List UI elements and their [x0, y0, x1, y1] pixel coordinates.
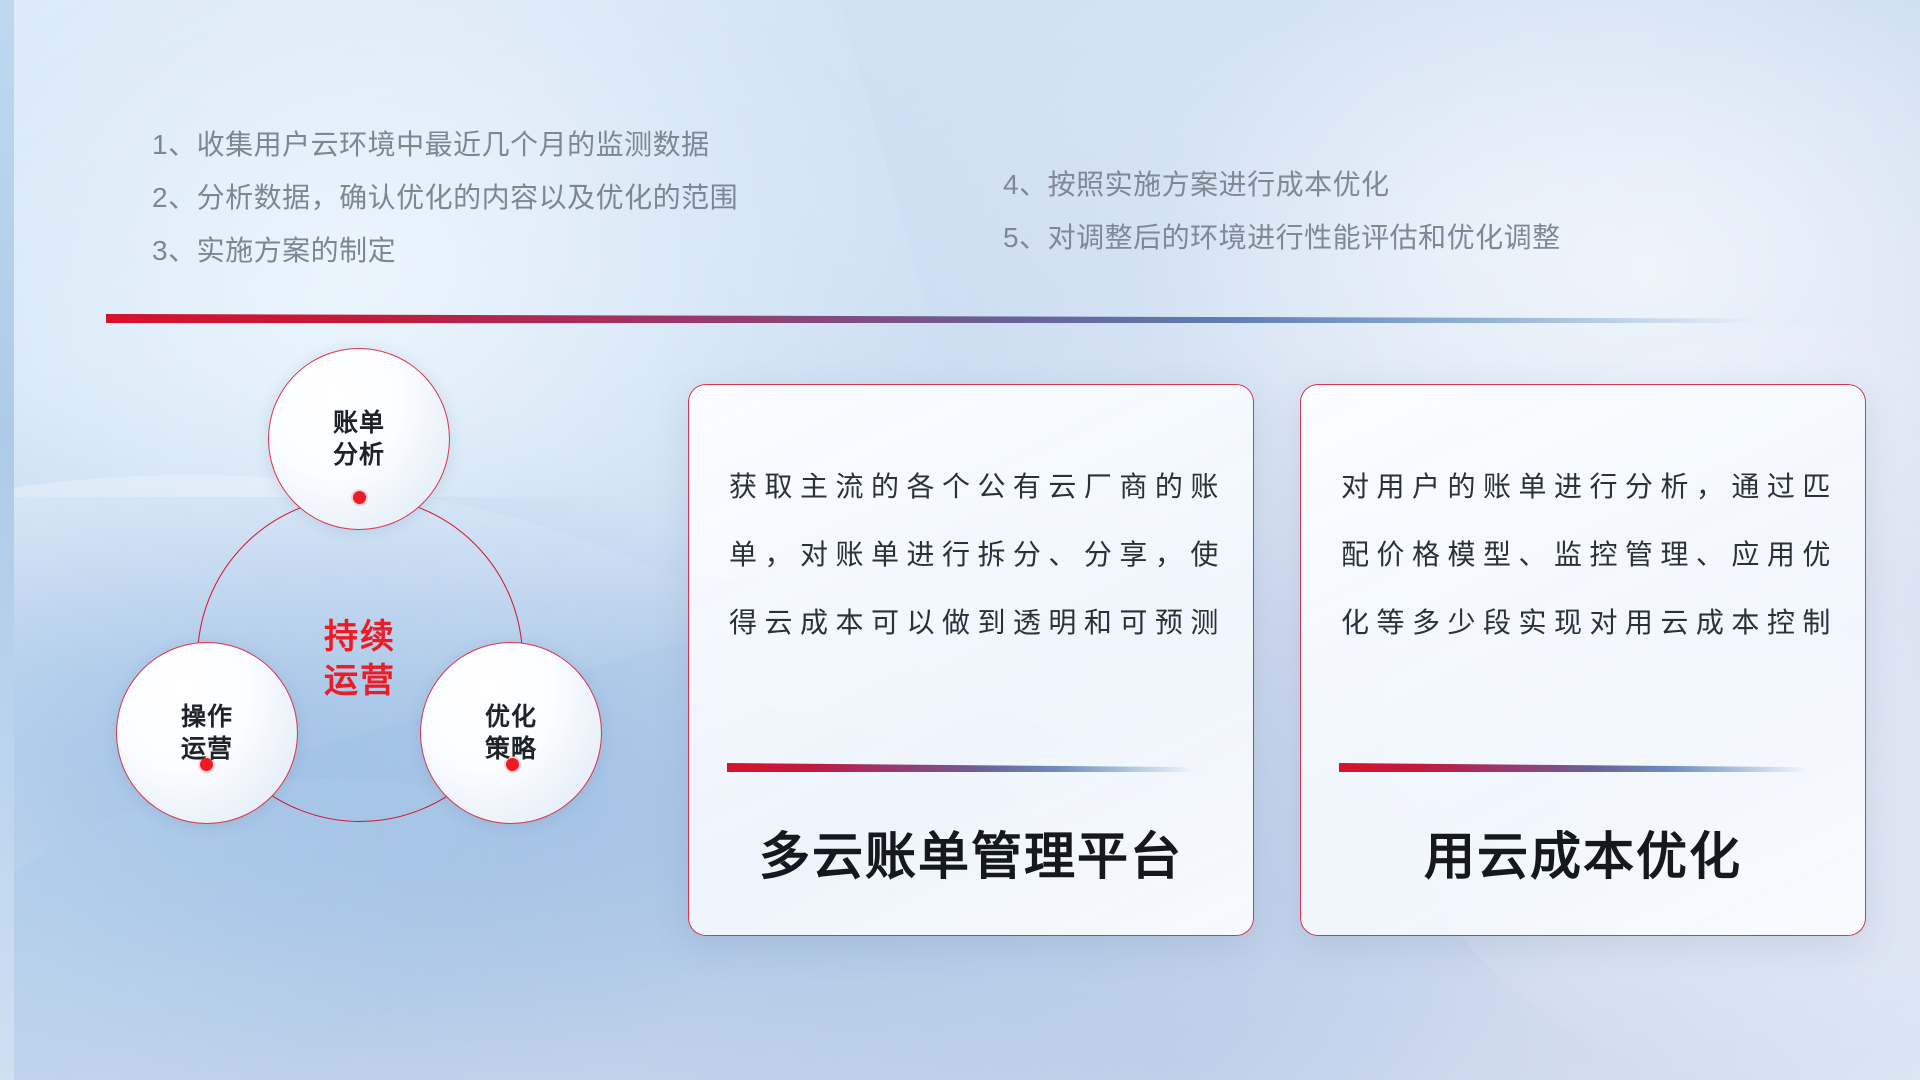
venn-connector-dot-left [200, 758, 213, 771]
venn-node-ops-operation[interactable]: 操作 运营 [116, 642, 298, 824]
card-1-paragraph-line-3: 得云成本可以做到透明和可预测 [729, 589, 1219, 657]
card-2-paragraph-line-1: 对用户的账单进行分析，通过匹 [1341, 453, 1831, 521]
card-2-divider [1339, 763, 1825, 772]
card-cloud-cost-optimization[interactable]: 对用户的账单进行分析，通过匹 配价格模型、监控管理、应用优 化等多少段实现对用云… [1300, 384, 1866, 936]
bullet-list-left: 1、收集用户云环境中最近几个月的监测数据 2、分析数据，确认优化的内容以及优化的… [152, 118, 738, 277]
card-1-divider [727, 763, 1213, 772]
bullet-list-right: 4、按照实施方案进行成本优化 5、对调整后的环境进行性能评估和优化调整 [1003, 158, 1561, 264]
venn-node-ops-operation-line-1: 操作 [181, 701, 233, 733]
bullet-lists: 1、收集用户云环境中最近几个月的监测数据 2、分析数据，确认优化的内容以及优化的… [0, 0, 1920, 300]
accent-divider-bar [106, 314, 1818, 323]
card-2-paragraph-line-2: 配价格模型、监控管理、应用优 [1341, 521, 1831, 589]
card-1-divider-bar [727, 763, 1213, 772]
bullet-item-2: 2、分析数据，确认优化的内容以及优化的范围 [152, 171, 738, 224]
card-multicloud-billing-platform[interactable]: 获取主流的各个公有云厂商的账 单，对账单进行拆分、分享，使 得云成本可以做到透明… [688, 384, 1254, 936]
bullet-item-1: 1、收集用户云环境中最近几个月的监测数据 [152, 118, 738, 171]
bullet-item-3: 3、实施方案的制定 [152, 224, 738, 277]
venn-node-ops-operation-label: 操作 运营 [181, 701, 233, 765]
venn-node-bill-analysis-line-2: 分析 [333, 439, 385, 471]
venn-node-opt-strategy-line-1: 优化 [485, 701, 537, 733]
card-1-title: 多云账单管理平台 [689, 815, 1253, 889]
card-2-divider-bar [1339, 763, 1825, 772]
bullet-item-4: 4、按照实施方案进行成本优化 [1003, 158, 1561, 211]
venn-diagram: 持续 运营 账单 分析 操作 运营 优化 策略 [100, 348, 640, 948]
venn-node-bill-analysis-line-1: 账单 [333, 407, 385, 439]
venn-node-opt-strategy[interactable]: 优化 策略 [420, 642, 602, 824]
card-2-paragraph-line-3: 化等多少段实现对用云成本控制 [1341, 589, 1831, 657]
venn-connector-dot-right [506, 758, 519, 771]
bullet-item-5: 5、对调整后的环境进行性能评估和优化调整 [1003, 211, 1561, 264]
venn-node-opt-strategy-label: 优化 策略 [485, 701, 537, 765]
card-1-paragraph-line-2: 单，对账单进行拆分、分享，使 [729, 521, 1219, 589]
accent-divider-rule [106, 314, 1818, 323]
venn-node-bill-analysis-label: 账单 分析 [333, 407, 385, 471]
venn-connector-dot-top [353, 491, 366, 504]
card-1-body: 获取主流的各个公有云厂商的账 单，对账单进行拆分、分享，使 得云成本可以做到透明… [729, 453, 1219, 657]
card-1-paragraph-line-1: 获取主流的各个公有云厂商的账 [729, 453, 1219, 521]
card-2-body: 对用户的账单进行分析，通过匹 配价格模型、监控管理、应用优 化等多少段实现对用云… [1341, 453, 1831, 657]
card-2-title: 用云成本优化 [1301, 815, 1865, 889]
